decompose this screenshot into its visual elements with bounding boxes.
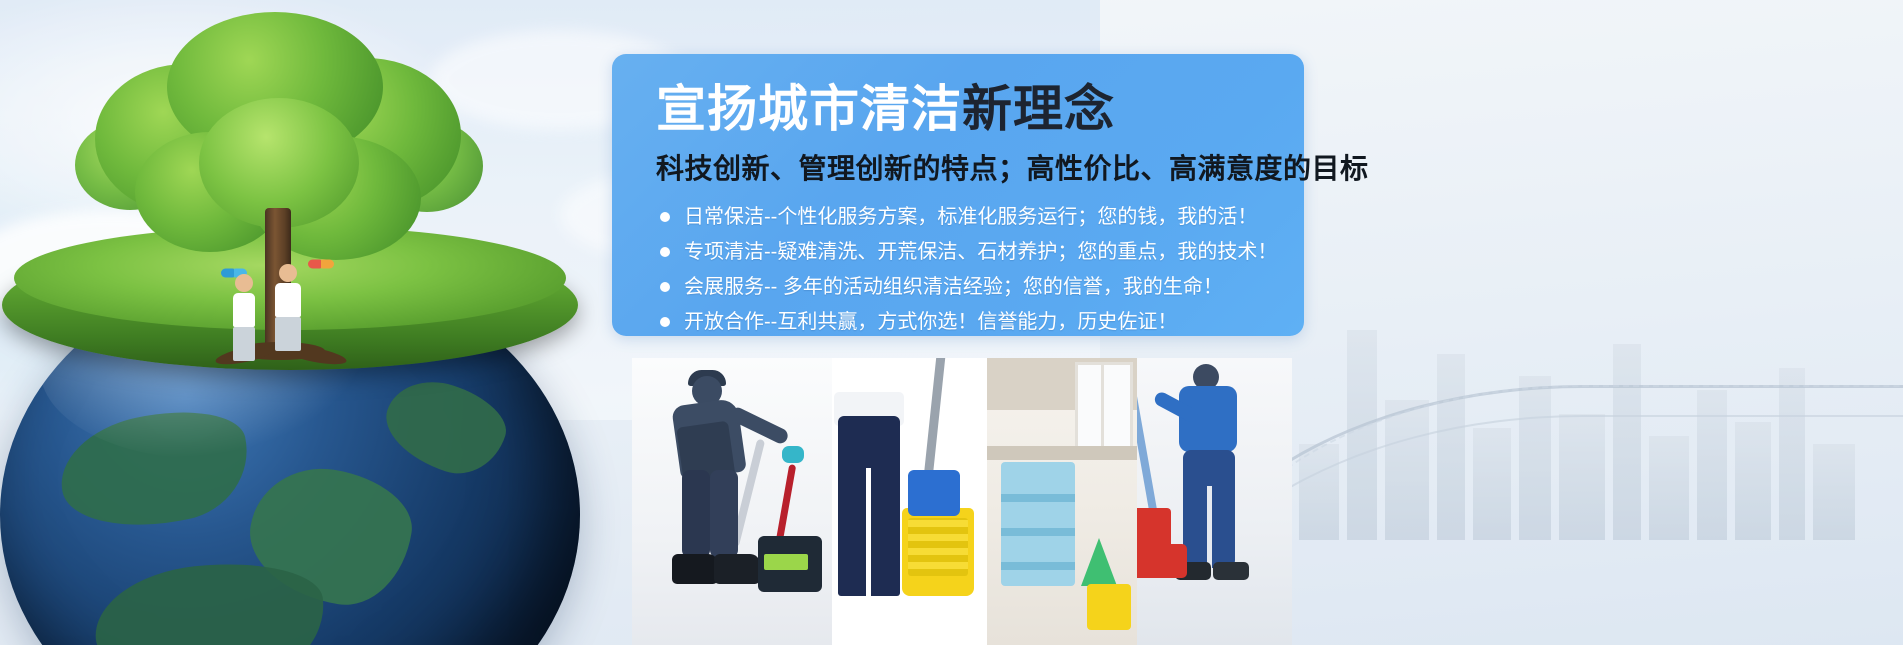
mop-head — [908, 470, 960, 516]
list-item: 专项清洁--疑难清洗、开荒保洁、石材养护；您的重点，我的技术！ — [660, 242, 1304, 262]
kitchen-counter — [987, 446, 1137, 460]
window-mullion — [1101, 362, 1104, 458]
tree-illustration — [75, 12, 475, 342]
child-head — [235, 274, 253, 292]
wet-floor-cone — [1081, 538, 1117, 586]
machine-label — [764, 554, 808, 570]
continent-shape — [375, 369, 515, 486]
photo-strip — [632, 358, 1292, 645]
bucket-wringer-grid — [908, 518, 968, 576]
photo-mop-bucket-uniform — [832, 358, 987, 645]
page-title: 宣扬城市清洁新理念 — [656, 84, 1304, 135]
child-figure — [275, 264, 301, 360]
child-legs — [233, 327, 255, 361]
feature-list: 日常保洁--个性化服务方案，标准化服务运行；您的钱，我的活！ 专项清洁--疑难清… — [660, 207, 1304, 332]
worker-boot — [714, 554, 760, 584]
pinwheel-icon — [309, 252, 333, 276]
bullet-dot-icon — [660, 247, 670, 257]
trouser-gap — [866, 468, 871, 596]
cart-shelf — [1001, 494, 1075, 502]
worker-leg — [682, 470, 710, 558]
worker-boot — [672, 554, 718, 584]
trouser-gap — [1207, 486, 1212, 568]
worker-shoe — [1213, 562, 1249, 580]
photo-kitchen-supply-cart — [987, 358, 1137, 645]
list-item-label: 专项清洁--疑难清洗、开荒保洁、石材养护；您的重点，我的技术！ — [684, 242, 1277, 262]
list-item: 会展服务-- 多年的活动组织清洁经验；您的信誉，我的生命！ — [660, 277, 1304, 297]
child-body — [275, 283, 301, 317]
list-item: 日常保洁--个性化服务方案，标准化服务运行；您的钱，我的活！ — [660, 207, 1304, 227]
headline-highlight: 宣扬城市清洁 — [656, 81, 962, 137]
kitchen-window — [1075, 362, 1133, 458]
list-item-label: 开放合作--互利共赢，方式你选！信誉能力，历史佐证！ — [684, 312, 1177, 332]
worker-leg — [710, 470, 738, 558]
child-legs — [275, 317, 301, 351]
bullet-dot-icon — [660, 282, 670, 292]
child-figure — [233, 274, 255, 360]
bullet-dot-icon — [660, 317, 670, 327]
list-item-label: 会展服务-- 多年的活动组织清洁经验；您的信誉，我的生命！ — [684, 277, 1223, 297]
bullet-dot-icon — [660, 212, 670, 222]
earth-globe-illustration — [0, 100, 600, 645]
list-item-label: 日常保洁--个性化服务方案，标准化服务运行；您的钱，我的活！ — [684, 207, 1257, 227]
cart-shelf — [1001, 562, 1075, 570]
photo-worker-mopping — [1137, 358, 1292, 645]
photo-worker-floor-machine — [632, 358, 832, 645]
cart-shelf — [1001, 528, 1075, 536]
subtitle: 科技创新、管理创新的特点；高性价比、高满意度的目标 — [656, 147, 1304, 187]
worker-glove — [782, 446, 804, 463]
yellow-bucket — [1087, 584, 1131, 630]
child-head — [279, 264, 297, 282]
red-mop-trolley — [1137, 544, 1187, 578]
list-item: 开放合作--互利共赢，方式你选！信誉能力，历史佐证！ — [660, 312, 1304, 332]
headline-rest: 新理念 — [962, 81, 1115, 137]
promotional-banner: 宣扬城市清洁新理念 科技创新、管理创新的特点；高性价比、高满意度的目标 日常保洁… — [0, 0, 1903, 645]
message-card: 宣扬城市清洁新理念 科技创新、管理创新的特点；高性价比、高满意度的目标 日常保洁… — [612, 54, 1304, 336]
child-body — [233, 293, 255, 327]
